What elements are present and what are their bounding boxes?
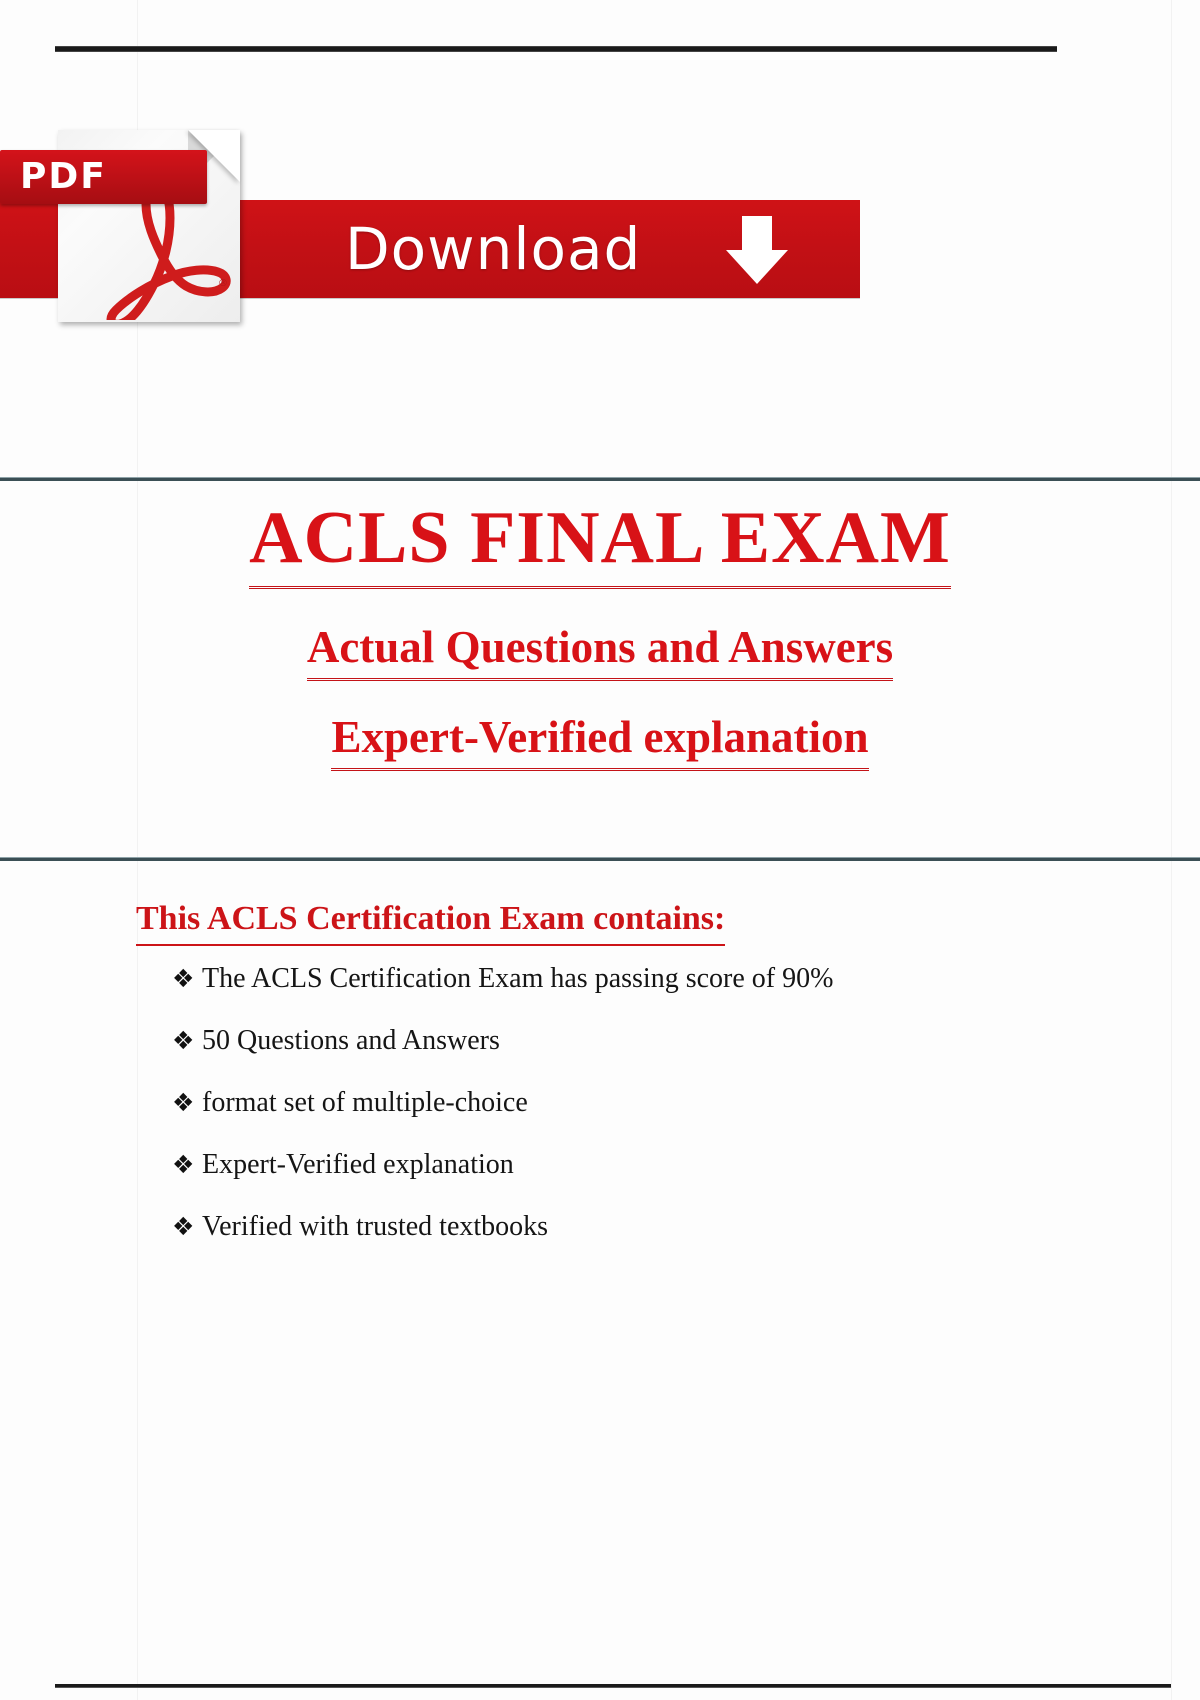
contents-section: This ACLS Certification Exam contains: ❖… xyxy=(0,895,1200,1270)
registered-mark: ® xyxy=(218,278,228,289)
list-item-label: Expert-Verified explanation xyxy=(202,1149,514,1180)
list-item-label: 50 Questions and Answers xyxy=(202,1025,500,1056)
download-label: Download xyxy=(345,214,641,284)
column-guide-right xyxy=(1171,0,1172,1700)
bullet-diamond-icon: ❖ xyxy=(172,960,194,998)
title-block: ACLS FINAL EXAM Actual Questions and Ans… xyxy=(0,480,1200,771)
pdf-badge: PDF xyxy=(0,150,207,204)
page-title: ACLS FINAL EXAM xyxy=(249,492,951,589)
list-item-label: format set of multiple-choice xyxy=(202,1087,528,1118)
list-item: ❖ 50 Questions and Answers xyxy=(172,1022,1200,1060)
bullet-diamond-icon: ❖ xyxy=(172,1208,194,1246)
page-subtitle-1: Actual Questions and Answers xyxy=(307,617,893,681)
bottom-horizontal-rule xyxy=(55,1684,1171,1688)
top-horizontal-rule xyxy=(55,46,1057,52)
page-subtitle-2: Expert-Verified explanation xyxy=(331,707,868,771)
download-banner[interactable]: Download PDF ® xyxy=(0,130,870,330)
pdf-file-icon: PDF ® xyxy=(58,130,240,322)
pdf-badge-label: PDF xyxy=(20,155,107,199)
section-divider-bottom xyxy=(0,857,1200,861)
list-item: ❖ Expert-Verified explanation xyxy=(172,1146,1200,1184)
contents-list: ❖ The ACLS Certification Exam has passin… xyxy=(0,960,1200,1246)
bullet-diamond-icon: ❖ xyxy=(172,1146,194,1184)
bullet-diamond-icon: ❖ xyxy=(172,1084,194,1122)
list-item: ❖ format set of multiple-choice xyxy=(172,1084,1200,1122)
bullet-diamond-icon: ❖ xyxy=(172,1022,194,1060)
list-item: ❖ The ACLS Certification Exam has passin… xyxy=(172,960,1200,998)
list-item-label: The ACLS Certification Exam has passing … xyxy=(202,963,833,994)
list-item-label: Verified with trusted textbooks xyxy=(202,1211,548,1242)
contents-heading: This ACLS Certification Exam contains: xyxy=(136,895,725,946)
list-item: ❖ Verified with trusted textbooks xyxy=(172,1208,1200,1246)
download-arrow-icon xyxy=(726,216,788,284)
document-page: Download PDF ® ACLS FINAL EXAM Actual Qu… xyxy=(0,0,1200,1700)
